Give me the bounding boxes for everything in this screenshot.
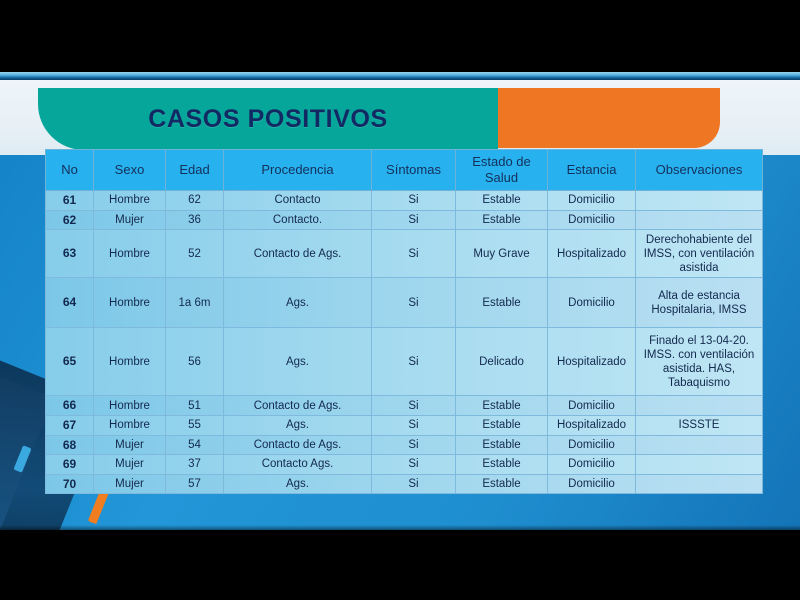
cell-sintomas: Si	[372, 474, 456, 494]
cell-estado-salud: Estable	[456, 278, 548, 328]
cell-procedencia: Contacto Ags.	[224, 455, 372, 475]
cell-no: 64	[46, 278, 94, 328]
cell-observaciones	[636, 210, 763, 230]
cell-sexo: Hombre	[94, 230, 166, 278]
cell-sintomas: Si	[372, 328, 456, 396]
cell-observaciones	[636, 435, 763, 455]
cell-estado-salud: Estable	[456, 455, 548, 475]
cell-sexo: Hombre	[94, 415, 166, 435]
cell-no: 61	[46, 191, 94, 211]
slide-stage: CASOS POSITIVOS No Sexo Edad Procedencia…	[0, 0, 800, 600]
table-head: No Sexo Edad Procedencia Síntomas Estado…	[46, 150, 763, 191]
cell-observaciones: Alta de estancia Hospitalaria, IMSS	[636, 278, 763, 328]
column-header-procedencia: Procedencia	[224, 150, 372, 191]
table-row: 64Hombre1a 6mAgs.SiEstableDomicilioAlta …	[46, 278, 763, 328]
cell-edad: 62	[166, 191, 224, 211]
cell-observaciones	[636, 455, 763, 475]
cell-no: 65	[46, 328, 94, 396]
cell-estado-salud: Delicado	[456, 328, 548, 396]
cell-procedencia: Ags.	[224, 328, 372, 396]
presentation-slide: CASOS POSITIVOS No Sexo Edad Procedencia…	[0, 72, 800, 530]
cell-estancia: Domicilio	[548, 210, 636, 230]
cell-edad: 51	[166, 396, 224, 416]
cell-sintomas: Si	[372, 435, 456, 455]
cell-sintomas: Si	[372, 278, 456, 328]
table-row: 68Mujer54Contacto de Ags.SiEstableDomici…	[46, 435, 763, 455]
cell-sexo: Mujer	[94, 210, 166, 230]
cell-estancia: Domicilio	[548, 455, 636, 475]
cell-estado-salud: Estable	[456, 474, 548, 494]
cell-estancia: Domicilio	[548, 396, 636, 416]
cell-sexo: Hombre	[94, 328, 166, 396]
cell-edad: 57	[166, 474, 224, 494]
cell-sexo: Hombre	[94, 396, 166, 416]
cell-procedencia: Ags.	[224, 278, 372, 328]
cell-observaciones: Finado el 13-04-20. IMSS. con ventilació…	[636, 328, 763, 396]
table-row: 62Mujer36Contacto.SiEstableDomicilio	[46, 210, 763, 230]
cell-sexo: Mujer	[94, 435, 166, 455]
table-row: 63Hombre52Contacto de Ags.SiMuy GraveHos…	[46, 230, 763, 278]
table-row: 67Hombre55Ags.SiEstableHospitalizadoISSS…	[46, 415, 763, 435]
column-header-sexo: Sexo	[94, 150, 166, 191]
cell-estancia: Domicilio	[548, 191, 636, 211]
cell-estancia: Domicilio	[548, 435, 636, 455]
table-row: 65Hombre56Ags.SiDelicadoHospitalizadoFin…	[46, 328, 763, 396]
cell-estado-salud: Estable	[456, 191, 548, 211]
cell-observaciones	[636, 396, 763, 416]
column-header-estancia: Estancia	[548, 150, 636, 191]
table-row: 61Hombre62ContactoSiEstableDomicilio	[46, 191, 763, 211]
cases-table-wrapper: No Sexo Edad Procedencia Síntomas Estado…	[45, 149, 762, 494]
cell-estancia: Hospitalizado	[548, 328, 636, 396]
cell-procedencia: Contacto	[224, 191, 372, 211]
cell-estado-salud: Estable	[456, 396, 548, 416]
cell-observaciones	[636, 191, 763, 211]
cell-sintomas: Si	[372, 455, 456, 475]
table-header-row: No Sexo Edad Procedencia Síntomas Estado…	[46, 150, 763, 191]
cell-sexo: Mujer	[94, 455, 166, 475]
cell-edad: 36	[166, 210, 224, 230]
cell-observaciones: ISSSTE	[636, 415, 763, 435]
cell-procedencia: Contacto de Ags.	[224, 396, 372, 416]
cell-estancia: Hospitalizado	[548, 415, 636, 435]
cell-estado-salud: Muy Grave	[456, 230, 548, 278]
cell-no: 67	[46, 415, 94, 435]
cell-edad: 55	[166, 415, 224, 435]
cell-edad: 52	[166, 230, 224, 278]
cell-sintomas: Si	[372, 415, 456, 435]
column-header-edad: Edad	[166, 150, 224, 191]
cell-no: 70	[46, 474, 94, 494]
table-row: 69Mujer37Contacto Ags.SiEstableDomicilio	[46, 455, 763, 475]
cell-no: 69	[46, 455, 94, 475]
column-header-no: No	[46, 150, 94, 191]
column-header-estado-de-salud: Estado de Salud	[456, 150, 548, 191]
slide-top-accent-strip	[0, 72, 800, 80]
cell-estado-salud: Estable	[456, 435, 548, 455]
cell-edad: 1a 6m	[166, 278, 224, 328]
cell-no: 68	[46, 435, 94, 455]
cell-no: 63	[46, 230, 94, 278]
positive-cases-table: No Sexo Edad Procedencia Síntomas Estado…	[45, 149, 763, 494]
cell-observaciones: Derechohabiente del IMSS, con ventilació…	[636, 230, 763, 278]
page-title: CASOS POSITIVOS	[38, 88, 498, 150]
cell-procedencia: Ags.	[224, 474, 372, 494]
cell-observaciones	[636, 474, 763, 494]
column-header-observaciones: Observaciones	[636, 150, 763, 191]
table-row: 66Hombre51Contacto de Ags.SiEstableDomic…	[46, 396, 763, 416]
cell-sexo: Hombre	[94, 191, 166, 211]
cell-sexo: Mujer	[94, 474, 166, 494]
cell-no: 66	[46, 396, 94, 416]
column-header-sintomas: Síntomas	[372, 150, 456, 191]
cell-sintomas: Si	[372, 210, 456, 230]
cell-sintomas: Si	[372, 230, 456, 278]
cell-procedencia: Contacto de Ags.	[224, 230, 372, 278]
slide-bottom-shadow	[0, 525, 800, 530]
cell-estancia: Domicilio	[548, 474, 636, 494]
cell-estado-salud: Estable	[456, 210, 548, 230]
cell-procedencia: Contacto de Ags.	[224, 435, 372, 455]
cell-estado-salud: Estable	[456, 415, 548, 435]
cell-edad: 56	[166, 328, 224, 396]
cell-estancia: Hospitalizado	[548, 230, 636, 278]
table-body: 61Hombre62ContactoSiEstableDomicilio62Mu…	[46, 191, 763, 494]
cell-procedencia: Ags.	[224, 415, 372, 435]
cell-edad: 37	[166, 455, 224, 475]
cell-estancia: Domicilio	[548, 278, 636, 328]
cell-no: 62	[46, 210, 94, 230]
cell-sintomas: Si	[372, 191, 456, 211]
cell-edad: 54	[166, 435, 224, 455]
cell-procedencia: Contacto.	[224, 210, 372, 230]
cell-sintomas: Si	[372, 396, 456, 416]
table-row: 70Mujer57Ags.SiEstableDomicilio	[46, 474, 763, 494]
cell-sexo: Hombre	[94, 278, 166, 328]
